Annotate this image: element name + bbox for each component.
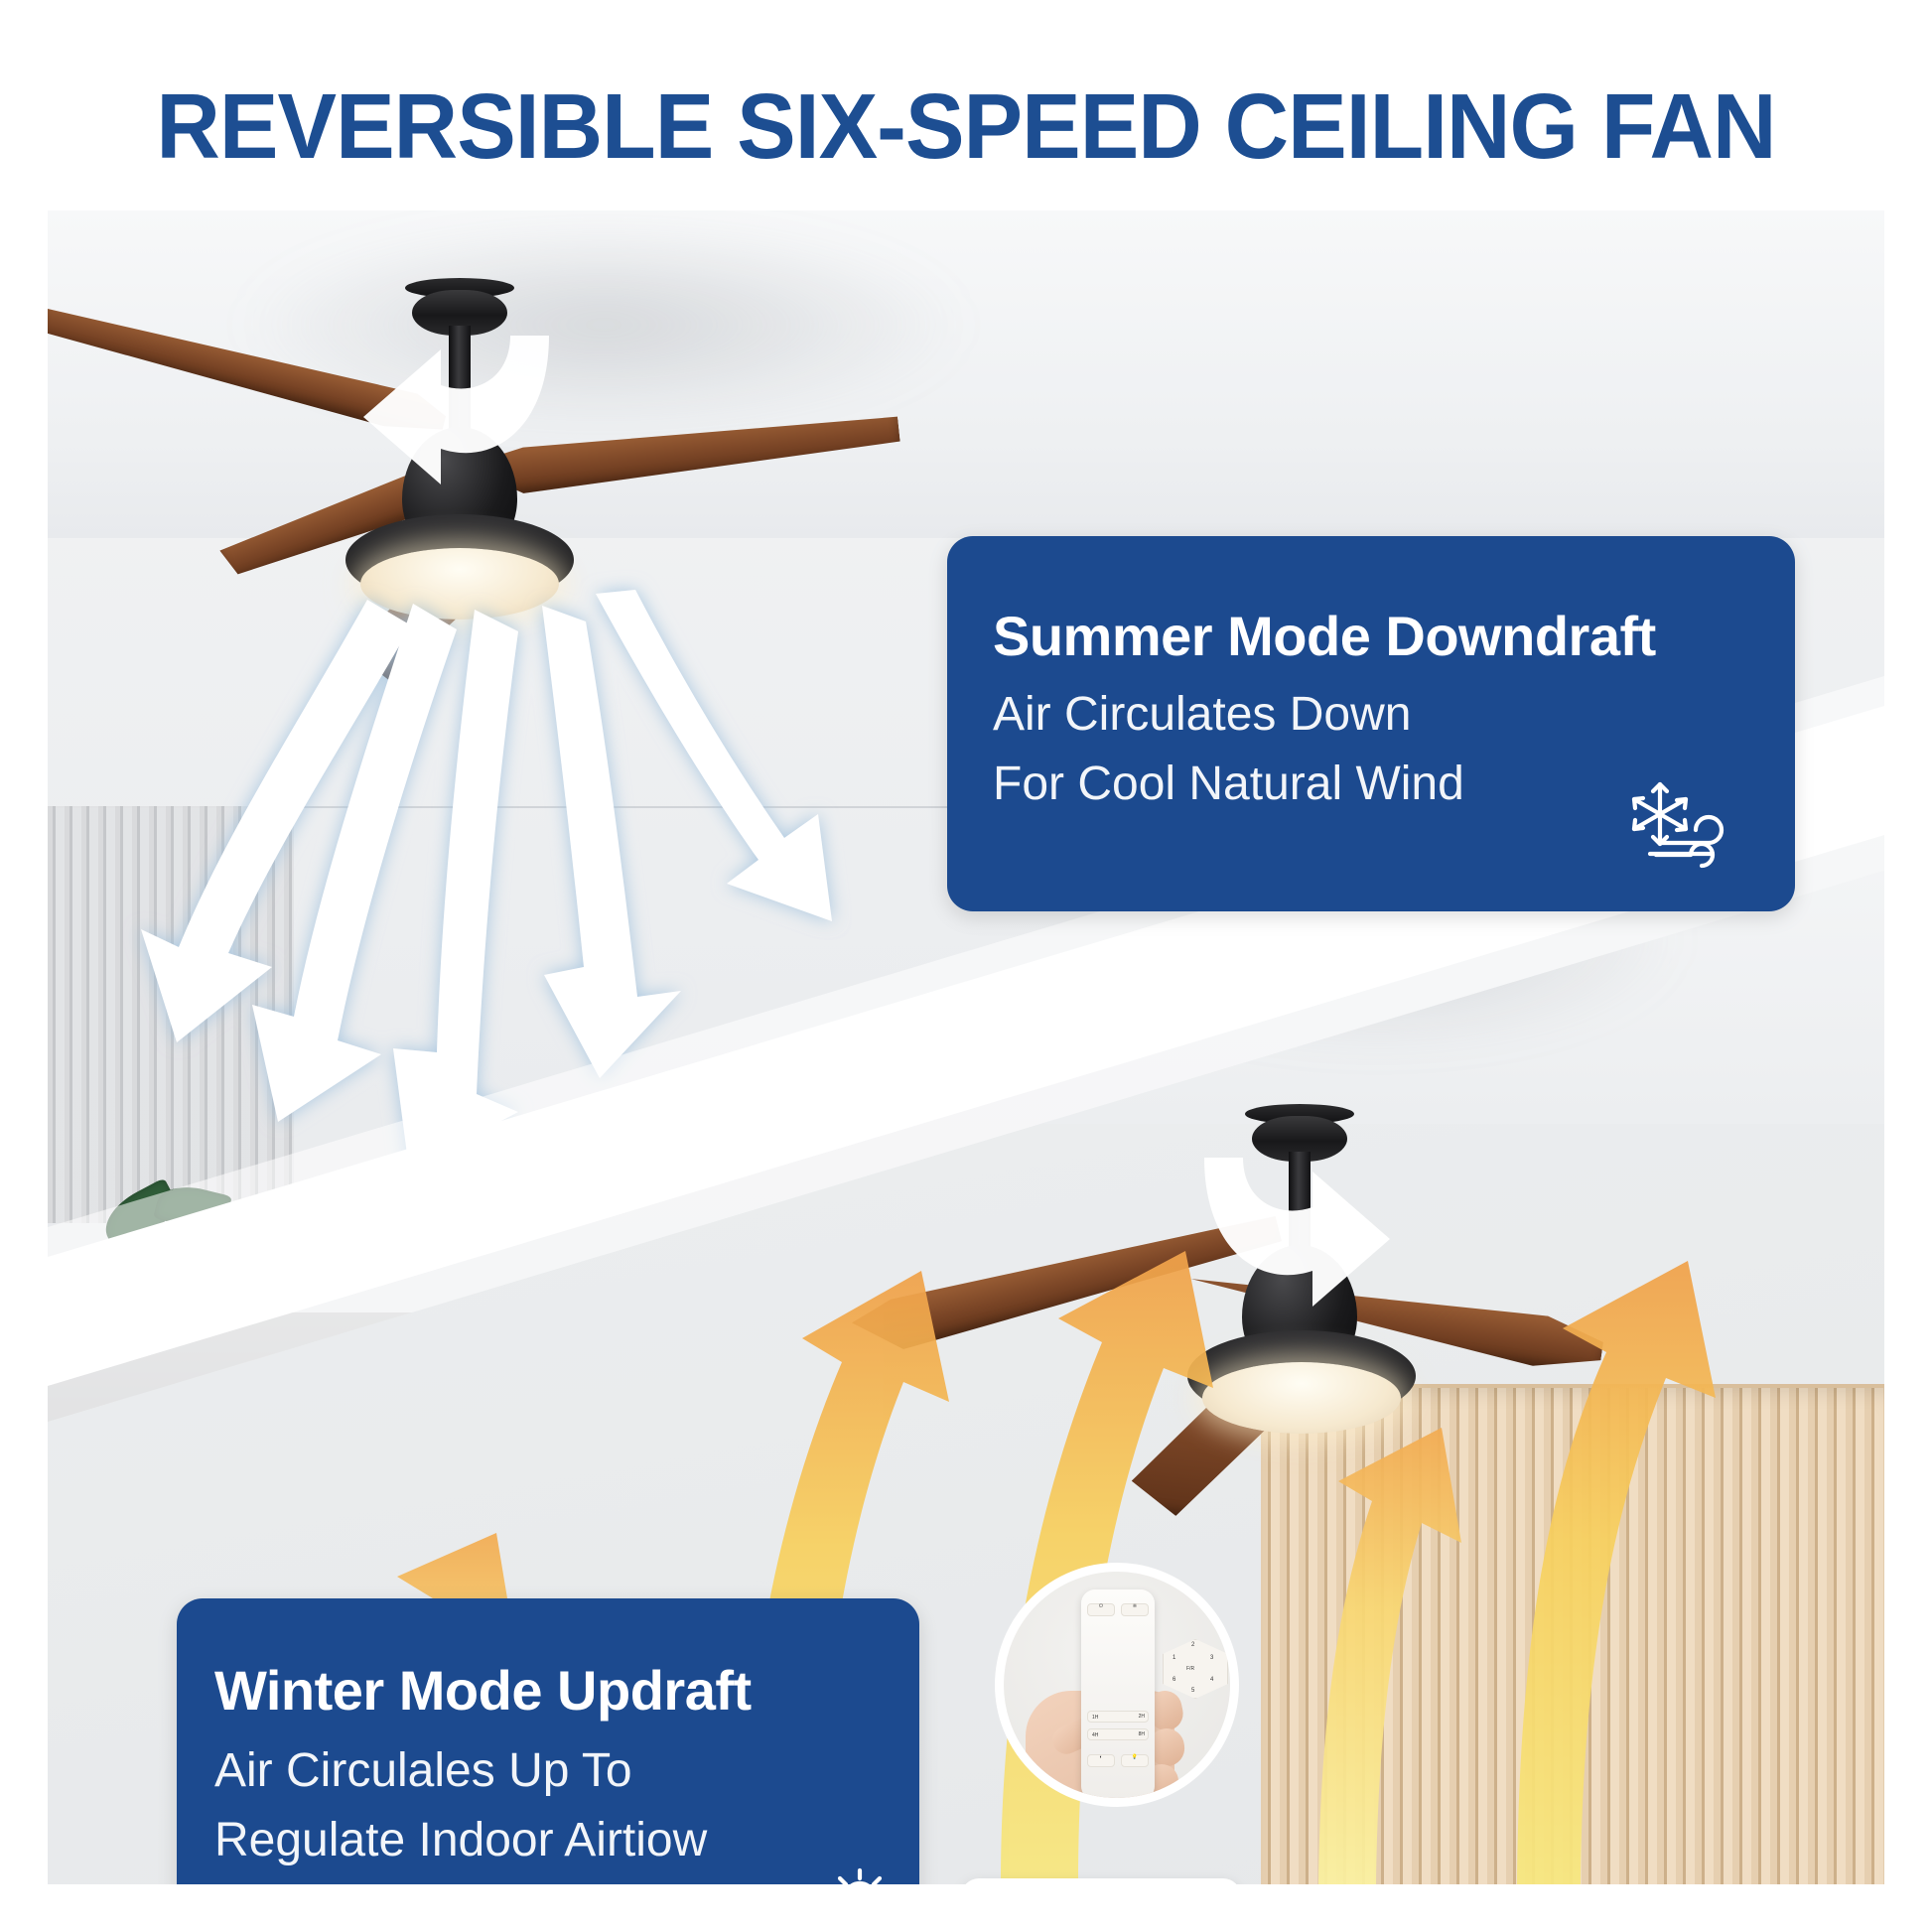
remote-light-button[interactable]: 💡: [1121, 1754, 1149, 1767]
fan-led-light: [360, 548, 559, 620]
remote-control-circle: ⏻ ❊ 2 1 3 6 4 5 F/R 1H 2H 4H 8H ◐ 💡: [995, 1563, 1239, 1807]
snowflake-wind-icon: [1616, 774, 1743, 884]
summer-callout-title: Summer Mode Downdraft: [993, 604, 1656, 668]
remote-fan-button[interactable]: ❊: [1121, 1603, 1149, 1616]
remote-power-button[interactable]: ⏻: [1087, 1603, 1115, 1616]
infographic-root: REVERSIBLE SIX-SPEED CEILING FAN: [0, 0, 1932, 1932]
winter-callout-title: Winter Mode Updraft: [214, 1658, 752, 1723]
remote-speed-2[interactable]: 2: [1191, 1642, 1194, 1648]
rotation-arrow-ccw: [345, 300, 574, 498]
summer-callout-line2: For Cool Natural Wind: [993, 757, 1464, 811]
winter-callout-line1: Air Circulales Up To: [214, 1743, 632, 1798]
remote-speed-1[interactable]: 1: [1173, 1655, 1175, 1661]
sun-wind-icon: [776, 1863, 903, 1884]
summer-mode-callout: Summer Mode Downdraft Air Circulates Dow…: [947, 536, 1795, 911]
remote-control: ⏻ ❊ 2 1 3 6 4 5 F/R 1H 2H 4H 8H ◐ 💡: [1081, 1589, 1155, 1800]
fan-led-light: [1202, 1362, 1401, 1434]
remote-speed-3[interactable]: 3: [1210, 1655, 1213, 1661]
remote-dim-button[interactable]: ◐: [1087, 1754, 1115, 1767]
remote-timer-2h[interactable]: 2H: [1087, 1711, 1149, 1723]
six-speeds-badge: 6 speeds: [961, 1878, 1241, 1884]
remote-speed-6[interactable]: 6: [1173, 1677, 1175, 1683]
remote-speed-4[interactable]: 4: [1210, 1677, 1213, 1683]
remote-speed-5[interactable]: 5: [1191, 1688, 1194, 1694]
remote-reverse-label[interactable]: F/R: [1186, 1666, 1194, 1672]
remote-timer-8h[interactable]: 8H: [1087, 1728, 1149, 1740]
winter-mode-callout: Winter Mode Updraft Air Circulales Up To…: [177, 1598, 919, 1884]
remote-speed-hexpad[interactable]: [1163, 1639, 1228, 1699]
summer-callout-line1: Air Circulates Down: [993, 687, 1411, 742]
product-photo-panel: Summer Mode Downdraft Air Circulates Dow…: [48, 210, 1884, 1884]
winter-callout-line2: Regulate Indoor Airtiow: [214, 1813, 707, 1867]
page-title: REVERSIBLE SIX-SPEED CEILING FAN: [39, 73, 1893, 180]
rotation-arrow-cw: [1179, 1122, 1408, 1320]
